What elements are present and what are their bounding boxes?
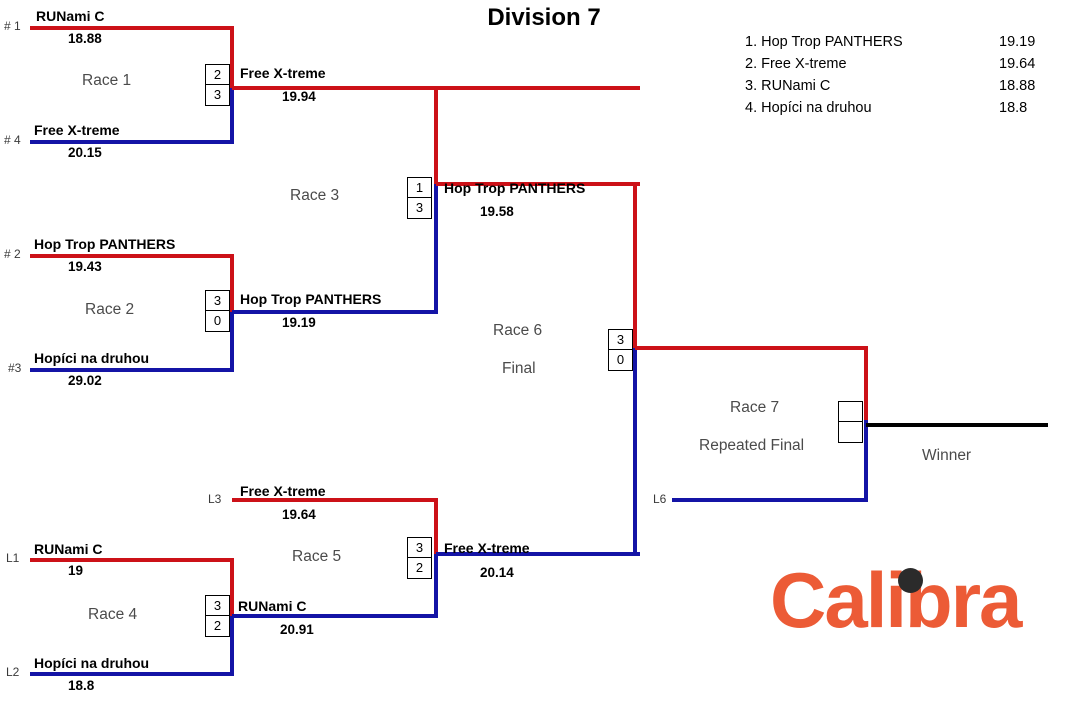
team-time-r4-out: 20.91 — [280, 622, 314, 637]
standing-name: 2. Free X-treme — [745, 56, 847, 72]
race-label-3: Race 3 — [290, 187, 339, 205]
race-label-6: Race 6 — [493, 322, 542, 340]
bracket-connector-r6-bottom — [633, 348, 637, 556]
team-time-r5-out: 20.14 — [480, 565, 514, 580]
race-label-4: Race 4 — [88, 606, 137, 624]
list-item: 4. Hopíci na druhou 18.8 — [745, 100, 1055, 122]
bracket-connector-r2-top — [230, 254, 234, 314]
score-r1-bottom: 3 — [205, 85, 230, 106]
team-name-r2-out: Hop Trop PANTHERS — [240, 291, 381, 307]
bracket-line-r6-out — [635, 346, 868, 350]
bracket-connector-r7-top — [864, 346, 868, 422]
bracket-line-r1-top — [30, 26, 234, 30]
team-name-r3-out: Hop Trop PANTHERS — [444, 180, 585, 196]
score-r7-bottom — [838, 422, 863, 443]
score-r6-top: 3 — [608, 329, 633, 350]
bracket-line-r2-bottom — [30, 368, 234, 372]
bracket-connector-r4-top — [230, 558, 234, 618]
team-name-r4-out: RUNami C — [238, 598, 306, 614]
team-name-r4-bottom: Hopíci na druhou — [34, 655, 149, 671]
score-r5-bottom: 2 — [407, 558, 432, 579]
team-name-r5-out: Free X-treme — [444, 540, 530, 556]
score-r2-bottom: 0 — [205, 311, 230, 332]
score-r4-bottom: 2 — [205, 616, 230, 637]
standing-time: 18.88 — [999, 78, 1035, 94]
winner-label: Winner — [922, 447, 971, 465]
standing-name: 1. Hop Trop PANTHERS — [745, 34, 903, 50]
team-time-r2-top: 19.43 — [68, 259, 102, 274]
bracket-connector-r6-top — [633, 182, 637, 350]
race-label-2: Race 2 — [85, 301, 134, 319]
team-name-r2-bottom: Hopíci na druhou — [34, 350, 149, 366]
race-label-1: Race 1 — [82, 72, 131, 90]
score-r4-top: 3 — [205, 595, 230, 616]
bracket-line-r4-top — [30, 558, 234, 562]
race-sublabel-7: Repeated Final — [699, 437, 804, 455]
team-time-r1-out: 19.94 — [282, 89, 316, 104]
team-time-r1-top: 18.88 — [68, 31, 102, 46]
bracket-line-r4-bottom — [30, 672, 234, 676]
seed-label-r1-top: # 1 — [4, 19, 21, 33]
team-time-r1-bottom: 20.15 — [68, 145, 102, 160]
seed-label-r4-bottom: L2 — [6, 665, 19, 679]
score-r3-bottom: 3 — [407, 198, 432, 219]
team-time-r4-top: 19 — [68, 563, 83, 578]
bracket-line-r2-top — [30, 254, 234, 258]
list-item: 1. Hop Trop PANTHERS 19.19 — [745, 34, 1055, 56]
bracket-line-r1-bottom — [30, 140, 234, 144]
team-name-r2-top: Hop Trop PANTHERS — [34, 236, 175, 252]
score-r5-top: 3 — [407, 537, 432, 558]
team-name-r5-top: Free X-treme — [240, 483, 326, 499]
score-r3-top: 1 — [407, 177, 432, 198]
bracket-connector-r4-bottom — [230, 616, 234, 676]
standing-time: 18.8 — [999, 100, 1027, 116]
race-sublabel-6: Final — [502, 360, 536, 378]
seed-label-r7-bottom: L6 — [653, 492, 666, 506]
bracket-connector-r1-bottom — [230, 88, 234, 144]
tournament-bracket: Division 7 1. Hop Trop PANTHERS 19.19 2.… — [0, 0, 1088, 725]
standing-time: 19.19 — [999, 34, 1035, 50]
score-r6-bottom: 0 — [608, 350, 633, 371]
team-time-r2-bottom: 29.02 — [68, 373, 102, 388]
team-time-r5-top: 19.64 — [282, 507, 316, 522]
team-time-r4-bottom: 18.8 — [68, 678, 94, 693]
team-time-r2-out: 19.19 — [282, 315, 316, 330]
seed-label-r5-top: L3 — [208, 492, 221, 506]
seed-label-r4-top: L1 — [6, 551, 19, 565]
race-label-5: Race 5 — [292, 548, 341, 566]
standings-list: 1. Hop Trop PANTHERS 19.19 2. Free X-tre… — [745, 34, 1055, 122]
standing-name: 4. Hopíci na druhou — [745, 100, 872, 116]
seed-label-r2-bottom: #3 — [8, 361, 21, 375]
bracket-connector-r5-bottom — [434, 554, 438, 616]
bracket-connector-r5-top — [434, 498, 438, 556]
bracket-connector-r7-bottom — [864, 420, 868, 500]
bracket-line-r4-out — [232, 614, 438, 618]
calibra-logo-dot-icon — [898, 568, 923, 593]
list-item: 2. Free X-treme 19.64 — [745, 56, 1055, 78]
list-item: 3. RUNami C 18.88 — [745, 78, 1055, 100]
seed-label-r2-top: # 2 — [4, 247, 21, 261]
team-name-r4-top: RUNami C — [34, 541, 102, 557]
bracket-connector-r3-bottom — [434, 184, 438, 312]
bracket-line-r2-out — [232, 310, 438, 314]
standing-time: 19.64 — [999, 56, 1035, 72]
bracket-line-r7-bottom — [672, 498, 868, 502]
race-label-7: Race 7 — [730, 399, 779, 417]
standing-name: 3. RUNami C — [745, 78, 830, 94]
bracket-connector-r3-top — [434, 86, 438, 186]
team-name-r1-out: Free X-treme — [240, 65, 326, 81]
calibra-logo: Calibra — [770, 560, 1040, 640]
bracket-connector-r2-bottom — [230, 312, 234, 372]
calibra-logo-text: Calibra — [770, 560, 1020, 640]
seed-label-r1-bottom: # 4 — [4, 133, 21, 147]
score-r1-top: 2 — [205, 64, 230, 85]
score-r2-top: 3 — [205, 290, 230, 311]
bracket-line-winner — [866, 423, 1048, 427]
team-name-r1-bottom: Free X-treme — [34, 122, 120, 138]
team-name-r1-top: RUNami C — [36, 8, 104, 24]
bracket-connector-r1-top — [230, 26, 234, 90]
score-r7-top — [838, 401, 863, 422]
team-time-r3-out: 19.58 — [480, 204, 514, 219]
